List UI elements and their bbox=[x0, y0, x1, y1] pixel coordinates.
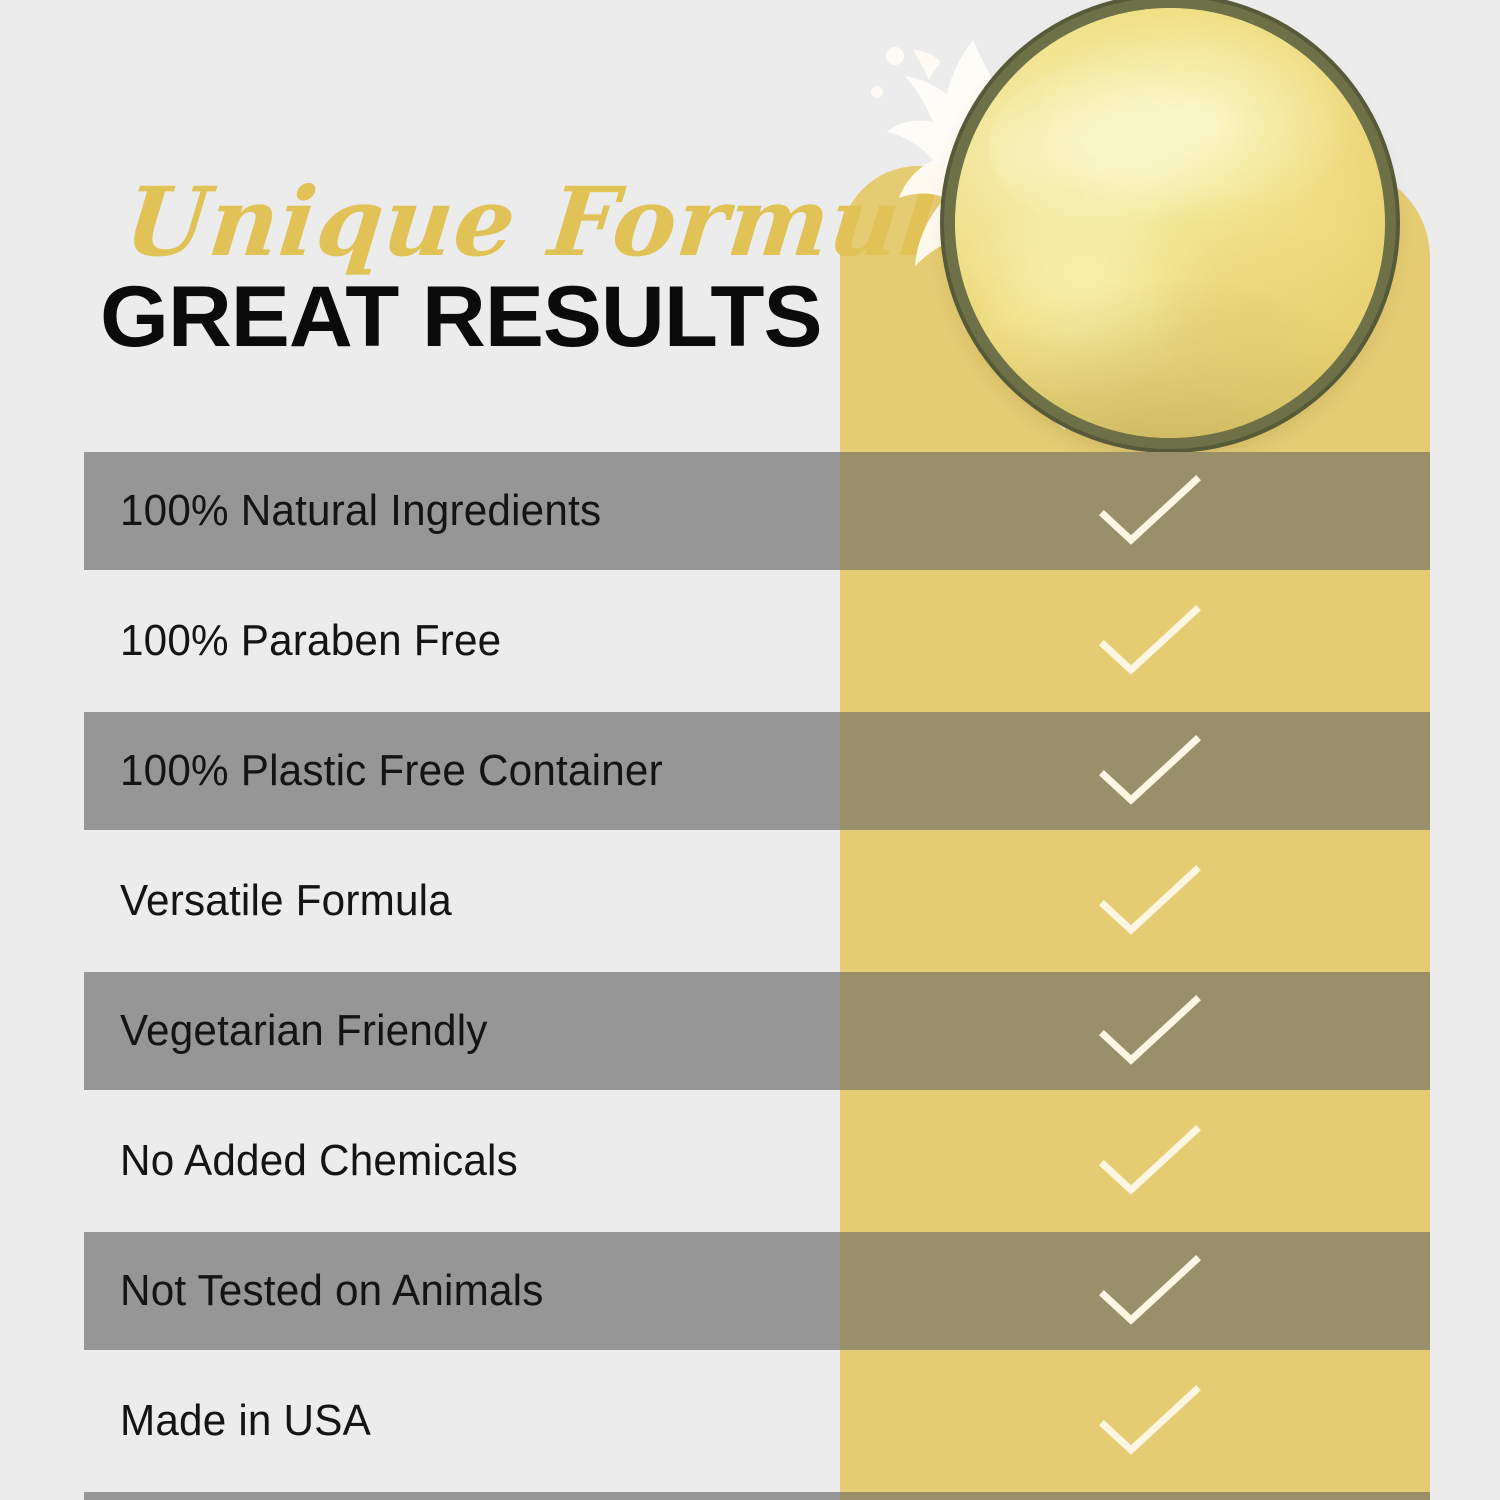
feature-list: 100% Natural Ingredients 100% Paraben Fr… bbox=[0, 452, 1500, 1500]
row-gold-segment bbox=[840, 1492, 1430, 1500]
check-icon bbox=[1098, 1124, 1202, 1198]
check-icon bbox=[1098, 734, 1202, 808]
feature-row: Size 8 oz / 238ml bbox=[0, 1492, 1500, 1500]
feature-label: No Added Chemicals bbox=[120, 1102, 518, 1220]
script-headline: Unique Formula bbox=[121, 175, 865, 270]
check-icon bbox=[1098, 1384, 1202, 1458]
infographic-canvas: Unique Formula GREAT RESULTS bbox=[0, 0, 1500, 1500]
feature-row: No Added Chemicals bbox=[0, 1102, 1500, 1220]
feature-row: Made in USA bbox=[0, 1362, 1500, 1480]
feature-row: Versatile Formula bbox=[0, 842, 1500, 960]
feature-row: Not Tested on Animals bbox=[0, 1232, 1500, 1350]
check-icon bbox=[1098, 604, 1202, 678]
feature-row: 100% Plastic Free Container bbox=[0, 712, 1500, 830]
check-icon bbox=[1098, 1254, 1202, 1328]
feature-label: Made in USA bbox=[120, 1362, 371, 1480]
feature-label: 100% Plastic Free Container bbox=[120, 712, 663, 830]
feature-label: Not Tested on Animals bbox=[120, 1232, 544, 1350]
feature-row: 100% Paraben Free bbox=[0, 582, 1500, 700]
page-title: GREAT RESULTS bbox=[100, 274, 883, 360]
headline-block: Unique Formula GREAT RESULTS bbox=[100, 175, 860, 360]
feature-row: Vegetarian Friendly bbox=[0, 972, 1500, 1090]
feature-label: Versatile Formula bbox=[120, 842, 452, 960]
check-icon bbox=[1098, 994, 1202, 1068]
feature-row: 100% Natural Ingredients bbox=[0, 452, 1500, 570]
check-icon bbox=[1098, 864, 1202, 938]
feature-label: 100% Natural Ingredients bbox=[120, 452, 601, 570]
feature-label: Size 8 oz / 238ml bbox=[120, 1492, 447, 1500]
feature-label: Vegetarian Friendly bbox=[120, 972, 488, 1090]
feature-label: 100% Paraben Free bbox=[120, 582, 501, 700]
check-icon bbox=[1098, 474, 1202, 548]
